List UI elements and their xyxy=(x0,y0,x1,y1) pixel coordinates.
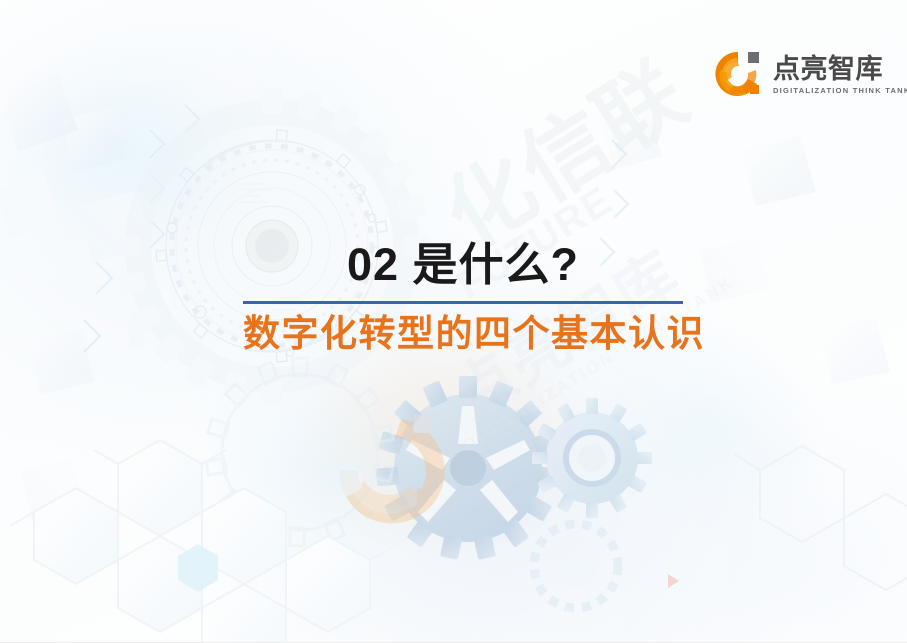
play-triangle-icon xyxy=(668,574,679,588)
slide-canvas: 化信联 FUTURE xyxy=(0,0,907,643)
logo-aperture-icon xyxy=(712,48,764,100)
logo-name-cn: 点亮智库 xyxy=(773,55,907,83)
section-title: 02 是什么? xyxy=(243,238,683,291)
logo-tagline-en: DIGITALIZATION THINK TANK xyxy=(773,86,907,95)
logo-wordmark: 点亮智库 DIGITALIZATION THINK TANK xyxy=(773,53,907,95)
headline-block: 02 是什么? 数字化转型的四个基本认识 xyxy=(243,238,683,356)
brand-logo: 点亮智库 DIGITALIZATION THINK TANK xyxy=(712,44,890,104)
section-subtitle: 数字化转型的四个基本认识 xyxy=(243,313,683,356)
title-divider xyxy=(243,301,683,304)
